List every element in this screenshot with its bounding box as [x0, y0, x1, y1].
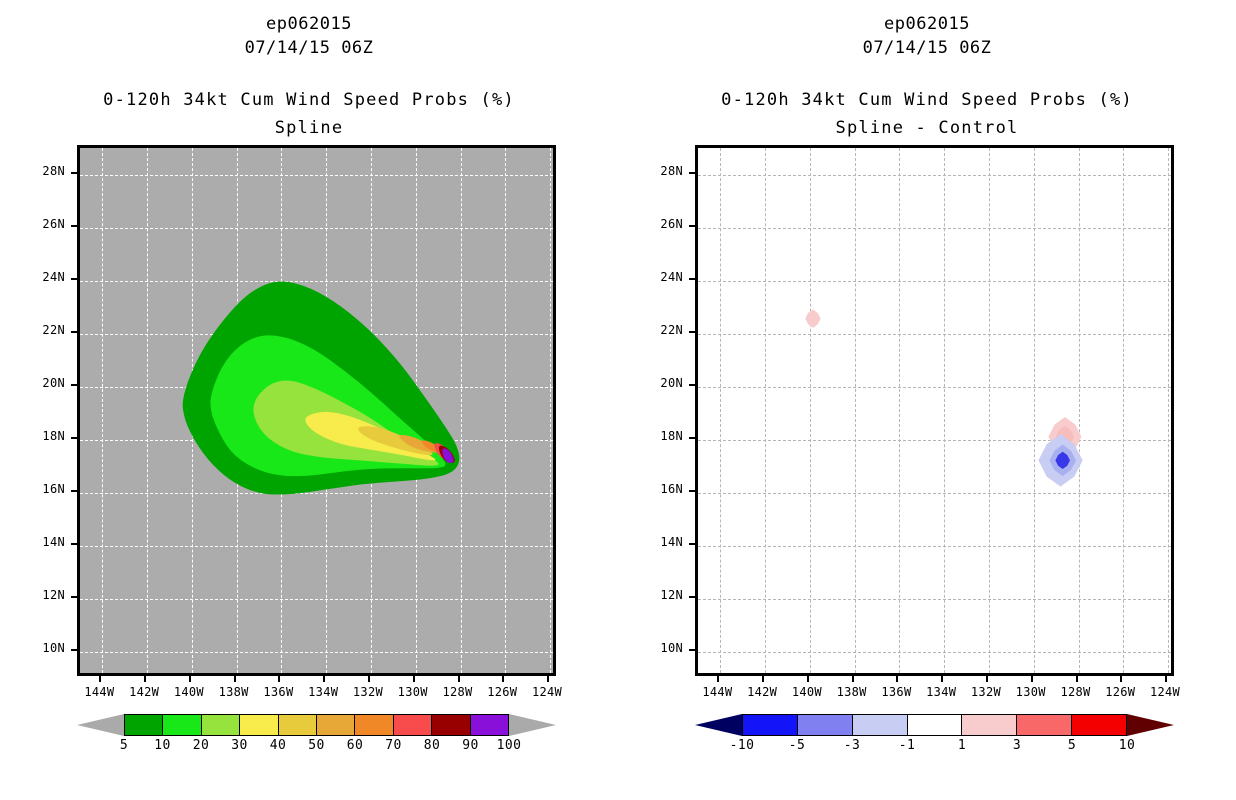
colorbar-right-high-cap: [1127, 714, 1174, 736]
x-axis-tick: [368, 676, 370, 682]
x-axis-tick: [1120, 676, 1122, 682]
y-axis-label: 28N: [637, 164, 683, 178]
colorbar-tick-label: 40: [256, 738, 300, 753]
y-axis-label: 26N: [637, 217, 683, 231]
y-axis-label: 28N: [19, 164, 65, 178]
colorbar-left-high-cap: [509, 714, 556, 736]
colorbar-swatch: [743, 715, 798, 735]
y-axis-label: 24N: [637, 270, 683, 284]
panel-right-storm-id: ep062015: [618, 14, 1236, 34]
colorbar-tick-label: -5: [775, 738, 819, 753]
panel-left-main-title: 0-120h 34kt Cum Wind Speed Probs (%): [0, 90, 618, 110]
y-axis-tick: [689, 331, 695, 333]
x-axis-tick: [144, 676, 146, 682]
colorbar-right-low-cap: [695, 714, 742, 736]
x-axis-tick: [896, 676, 898, 682]
y-axis-tick: [71, 543, 77, 545]
y-axis-tick: [689, 649, 695, 651]
x-axis-tick: [717, 676, 719, 682]
colorbar-tick-label: 50: [295, 738, 339, 753]
y-axis-label: 16N: [637, 482, 683, 496]
x-axis-tick: [1165, 676, 1167, 682]
x-axis-label: 124W: [521, 685, 573, 699]
x-axis-tick: [502, 676, 504, 682]
x-axis-tick: [986, 676, 988, 682]
x-axis-tick: [807, 676, 809, 682]
y-axis-tick: [71, 649, 77, 651]
colorbar-swatch: [798, 715, 853, 735]
x-axis-tick: [234, 676, 236, 682]
y-axis-label: 14N: [637, 535, 683, 549]
colorbar-swatch: [317, 715, 355, 735]
y-axis-label: 26N: [19, 217, 65, 231]
y-axis-label: 20N: [637, 376, 683, 390]
x-axis-tick: [189, 676, 191, 682]
y-axis-label: 10N: [637, 641, 683, 655]
colorbar-swatch: [355, 715, 393, 735]
colorbar-swatch: [908, 715, 963, 735]
y-axis-label: 18N: [19, 429, 65, 443]
y-axis-label: 18N: [637, 429, 683, 443]
colorbar-left-labels: 5102030405060708090100: [77, 738, 556, 758]
x-axis-tick: [413, 676, 415, 682]
x-axis-tick: [323, 676, 325, 682]
x-axis-tick: [458, 676, 460, 682]
colorbar-swatch: [394, 715, 432, 735]
y-axis-tick: [689, 543, 695, 545]
colorbar-tick-label: 5: [1050, 738, 1094, 753]
y-axis-tick: [71, 331, 77, 333]
colorbar-right: -10-5-3-113510: [618, 714, 1236, 764]
x-axis-tick: [762, 676, 764, 682]
colorbar-tick-label: 100: [487, 738, 531, 753]
panel-left-subtitle: Spline: [0, 118, 618, 138]
y-axis-tick: [71, 596, 77, 598]
colorbar-swatch: [202, 715, 240, 735]
y-axis-label: 14N: [19, 535, 65, 549]
panel-left-datetime: 07/14/15 06Z: [0, 38, 618, 58]
x-axis-tick: [1031, 676, 1033, 682]
colorbar-swatch: [125, 715, 163, 735]
colorbar-tick-label: 30: [218, 738, 262, 753]
colorbar-tick-label: 5: [102, 738, 146, 753]
colorbar-swatch: [962, 715, 1017, 735]
y-axis-tick: [71, 437, 77, 439]
colorbar-tick-label: 10: [141, 738, 185, 753]
colorbar-tick-label: 10: [1105, 738, 1149, 753]
y-axis-label: 22N: [637, 323, 683, 337]
contour-layer-right: [698, 148, 1171, 673]
y-axis-label: 12N: [19, 588, 65, 602]
panel-right-main-title: 0-120h 34kt Cum Wind Speed Probs (%): [618, 90, 1236, 110]
y-axis-label: 10N: [19, 641, 65, 655]
colorbar-swatch: [853, 715, 908, 735]
y-axis-tick: [689, 225, 695, 227]
y-axis-label: 16N: [19, 482, 65, 496]
colorbar-tick-label: 60: [333, 738, 377, 753]
y-axis-label: 20N: [19, 376, 65, 390]
x-axis-tick: [547, 676, 549, 682]
panel-left: ep062015 07/14/15 06Z 0-120h 34kt Cum Wi…: [0, 0, 618, 800]
y-axis-tick: [689, 172, 695, 174]
y-axis-tick: [689, 490, 695, 492]
panel-right: ep062015 07/14/15 06Z 0-120h 34kt Cum Wi…: [618, 0, 1236, 800]
colorbar-right-cells: [742, 714, 1127, 736]
y-axis-tick: [71, 490, 77, 492]
y-axis-tick: [689, 278, 695, 280]
colorbar-tick-label: -1: [885, 738, 929, 753]
y-axis-tick: [71, 384, 77, 386]
panel-left-storm-id: ep062015: [0, 14, 618, 34]
y-axis-tick: [71, 172, 77, 174]
colorbar-tick-label: 80: [410, 738, 454, 753]
x-axis-label: 124W: [1139, 685, 1191, 699]
colorbar-tick-label: 3: [995, 738, 1039, 753]
panel-right-datetime: 07/14/15 06Z: [618, 38, 1236, 58]
y-axis-label: 12N: [637, 588, 683, 602]
colorbar-tick-label: 90: [449, 738, 493, 753]
map-left: [77, 145, 556, 676]
colorbar-tick-label: -10: [720, 738, 764, 753]
colorbar-swatch: [1017, 715, 1072, 735]
x-axis-tick: [1076, 676, 1078, 682]
y-axis-tick: [689, 437, 695, 439]
y-axis-label: 22N: [19, 323, 65, 337]
y-axis-tick: [689, 384, 695, 386]
colorbar-right-labels: -10-5-3-113510: [695, 738, 1174, 758]
x-axis-tick: [941, 676, 943, 682]
colorbar-swatch: [471, 715, 508, 735]
colorbar-swatch: [163, 715, 201, 735]
contour-layer-left: [80, 148, 553, 673]
colorbar-tick-label: -3: [830, 738, 874, 753]
colorbar-tick-label: 20: [179, 738, 223, 753]
y-axis-tick: [71, 225, 77, 227]
x-axis-tick: [852, 676, 854, 682]
colorbar-left-cells: [124, 714, 509, 736]
colorbar-swatch: [432, 715, 470, 735]
y-axis-tick: [71, 278, 77, 280]
x-axis-tick: [278, 676, 280, 682]
map-right: [695, 145, 1174, 676]
y-axis-label: 24N: [19, 270, 65, 284]
colorbar-swatch: [240, 715, 278, 735]
colorbar-tick-label: 1: [940, 738, 984, 753]
colorbar-swatch: [279, 715, 317, 735]
x-axis-tick: [99, 676, 101, 682]
anomaly-feature: [805, 309, 820, 327]
colorbar-swatch: [1072, 715, 1126, 735]
y-axis-tick: [689, 596, 695, 598]
panel-right-subtitle: Spline - Control: [618, 118, 1236, 138]
colorbar-left: 5102030405060708090100: [0, 714, 618, 764]
colorbar-left-low-cap: [77, 714, 124, 736]
colorbar-tick-label: 70: [372, 738, 416, 753]
